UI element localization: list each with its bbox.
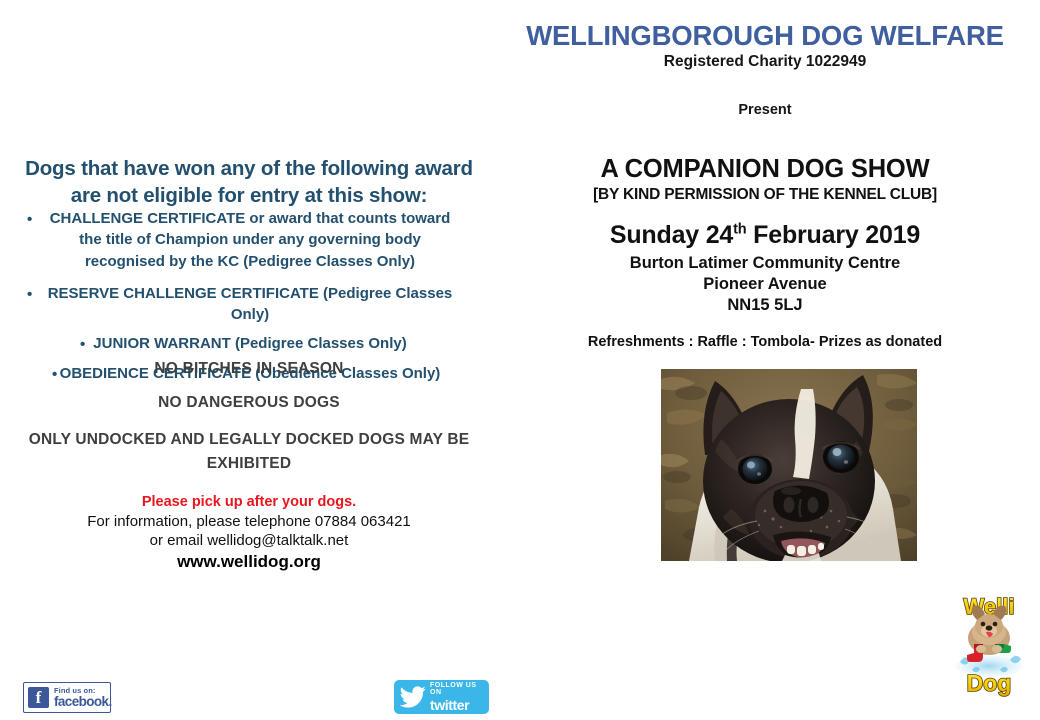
venue-name: Burton Latimer Community Centre xyxy=(505,253,1025,274)
right-column: WELLINGBOROUGH DOG WELFARE Registered Ch… xyxy=(505,0,1040,720)
list-item: • JUNIOR WARRANT (Pedigree Classes Only) xyxy=(14,333,486,354)
award-item-label: RESERVE CHALLENGE CERTIFICATE (Pedigree … xyxy=(48,285,453,323)
twitter-bird-icon xyxy=(400,686,426,708)
attractions-line: Refreshments : Raffle : Tombola- Prizes … xyxy=(505,334,1025,350)
eligibility-heading: Dogs that have won any of the following … xyxy=(14,155,484,209)
left-column: Dogs that have won any of the following … xyxy=(0,0,505,720)
venue-block: Burton Latimer Community Centre Pioneer … xyxy=(505,253,1025,316)
restrictions-block: NO BITCHES IN SEASON NO DANGEROUS DOGS O… xyxy=(14,360,484,476)
logo-bottom-word: Dog xyxy=(967,670,1012,696)
kennel-club-permission: [BY KIND PERMISSION OF THE KENNEL CLUB] xyxy=(505,186,1025,204)
poster-page: Dogs that have won any of the following … xyxy=(0,0,1040,720)
twitter-badge[interactable]: FOLLOW US ON twitter xyxy=(394,680,489,714)
bullet-icon: • xyxy=(27,209,32,230)
present-label: Present xyxy=(505,102,1025,118)
list-item: • CHALLENGE CERTIFICATE or award that co… xyxy=(14,208,486,272)
venue-street: Pioneer Avenue xyxy=(505,274,1025,295)
award-item-label: JUNIOR WARRANT (Pedigree Classes Only) xyxy=(93,335,406,352)
restriction-no-bitches-in-season: NO BITCHES IN SEASON xyxy=(14,360,484,378)
bullet-icon: • xyxy=(27,284,32,305)
email-line: or email wellidog@talktalk.net xyxy=(14,531,484,550)
restriction-no-dangerous-dogs: NO DANGEROUS DOGS xyxy=(14,394,484,412)
twitter-brand-label: twitter xyxy=(430,698,483,712)
event-date-prefix: Sunday 24 xyxy=(610,221,733,249)
pickup-notice: Please pick up after your dogs. xyxy=(14,494,484,510)
contact-block: Please pick up after your dogs. For info… xyxy=(14,494,484,572)
french-bulldog-photo xyxy=(661,369,917,561)
venue-postcode: NN15 5LJ xyxy=(505,295,1025,316)
facebook-brand-label: facebook. xyxy=(54,695,112,709)
page-title: WELLINGBOROUGH DOG WELFARE xyxy=(505,20,1025,52)
charity-registration: Registered Charity 1022949 xyxy=(505,53,1025,71)
telephone-line: For information, please telephone 07884 … xyxy=(14,512,484,531)
welli-dog-logo: Welli xyxy=(950,590,1028,698)
restriction-docking: ONLY UNDOCKED AND LEGALLY DOCKED DOGS MA… xyxy=(14,428,484,476)
twitter-follow-us-label: FOLLOW US ON xyxy=(430,682,483,696)
award-item-label: CHALLENGE CERTIFICATE or award that coun… xyxy=(50,210,451,270)
facebook-find-us-label: Find us on: xyxy=(54,687,112,695)
bullet-icon: • xyxy=(80,334,85,355)
facebook-badge[interactable]: f Find us on: facebook. xyxy=(23,682,111,713)
website-link[interactable]: www.wellidog.org xyxy=(14,552,484,572)
list-item: • RESERVE CHALLENGE CERTIFICATE (Pedigre… xyxy=(14,283,486,326)
event-date-ordinal: th xyxy=(733,222,746,238)
twitter-badge-text: FOLLOW US ON twitter xyxy=(430,682,483,712)
facebook-f-icon: f xyxy=(28,687,49,708)
event-date: Sunday 24th February 2019 xyxy=(505,221,1025,250)
show-title: A COMPANION DOG SHOW xyxy=(505,155,1025,184)
facebook-badge-text: Find us on: facebook. xyxy=(54,687,112,709)
event-date-suffix: February 2019 xyxy=(746,221,920,249)
